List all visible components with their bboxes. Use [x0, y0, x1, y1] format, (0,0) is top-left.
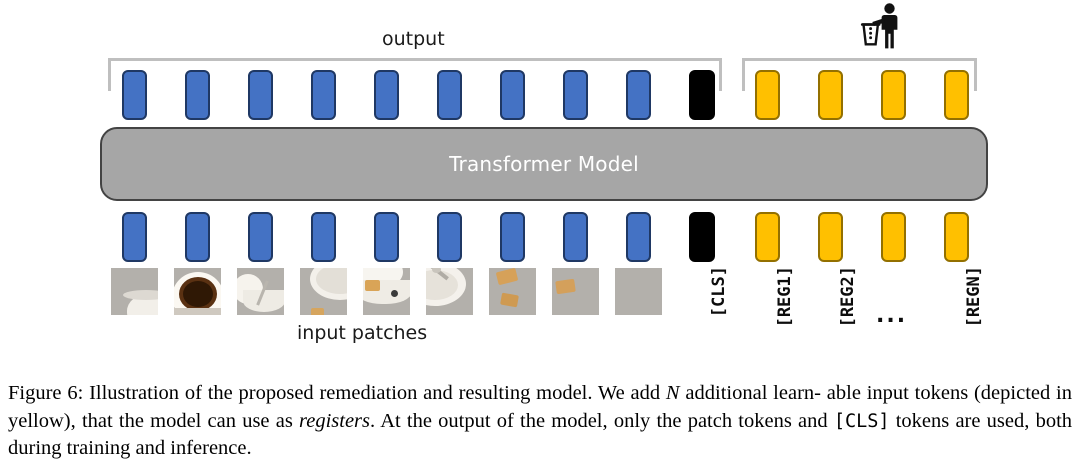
caption-registers-emphasis: registers	[299, 410, 370, 432]
transformer-model-label: Transformer Model	[449, 152, 639, 176]
output-token-patch-8	[563, 70, 588, 120]
token-label-reg1: [REG1]	[775, 266, 795, 327]
output-token-register-2	[818, 70, 843, 120]
input-token-register-4	[944, 212, 969, 262]
image-patch-6	[426, 268, 473, 315]
image-patch-2	[174, 268, 221, 315]
input-token-patch-1	[122, 212, 147, 262]
input-token-register-3	[881, 212, 906, 262]
input-token-register-2	[818, 212, 843, 262]
input-token-patch-2	[185, 212, 210, 262]
caption-line1-b: additional learn-	[685, 382, 821, 404]
input-token-patch-7	[500, 212, 525, 262]
figure-caption: Figure 6: Illustration of the proposed r…	[8, 380, 1072, 463]
output-token-patch-2	[185, 70, 210, 120]
caption-figure-number: Figure 6:	[8, 382, 83, 404]
output-label: output	[382, 28, 445, 50]
figure-canvas: output Transformer Model	[0, 0, 1080, 372]
output-token-patch-6	[437, 70, 462, 120]
image-patch-5	[363, 268, 410, 315]
token-label-reg2: [REG2]	[838, 266, 858, 327]
input-token-patch-9	[626, 212, 651, 262]
transformer-model-block: Transformer Model	[100, 127, 988, 201]
output-token-register-3	[881, 70, 906, 120]
caption-n-symbol: N	[666, 382, 680, 404]
caption-line3-a: model, only the patch tokens and	[551, 410, 827, 432]
keep-tidy-discard-icon	[856, 2, 908, 50]
image-patch-4	[300, 268, 347, 315]
input-token-patch-6	[437, 212, 462, 262]
image-patch-1	[111, 268, 158, 315]
token-label-regn: [REGN]	[964, 266, 984, 327]
output-token-patch-3	[248, 70, 273, 120]
input-token-patch-3	[248, 212, 273, 262]
token-label-cls: [CLS]	[709, 266, 729, 317]
input-token-patch-8	[563, 212, 588, 262]
output-token-patch-5	[374, 70, 399, 120]
image-patch-8	[552, 268, 599, 315]
input-patches-label: input patches	[297, 322, 427, 344]
token-label-ellipsis: ...	[876, 303, 907, 328]
output-token-patch-1	[122, 70, 147, 120]
output-token-register-4	[944, 70, 969, 120]
image-patch-9	[615, 268, 662, 315]
output-token-cls	[689, 70, 715, 120]
image-patch-7	[489, 268, 536, 315]
output-token-patch-7	[500, 70, 525, 120]
input-token-patch-4	[311, 212, 336, 262]
image-patch-3	[237, 268, 284, 315]
output-token-patch-4	[311, 70, 336, 120]
caption-line1-a: Illustration of the proposed remediation…	[89, 382, 660, 404]
caption-cls-token-mono: [CLS]	[834, 411, 890, 432]
output-bracket-register-group	[742, 58, 977, 61]
caption-line2-b: . At the output of the	[370, 410, 545, 432]
output-token-register-1	[755, 70, 780, 120]
input-token-register-1	[755, 212, 780, 262]
input-token-patch-5	[374, 212, 399, 262]
output-bracket-patch-group	[108, 58, 722, 61]
output-token-patch-9	[626, 70, 651, 120]
input-token-cls	[689, 212, 715, 262]
